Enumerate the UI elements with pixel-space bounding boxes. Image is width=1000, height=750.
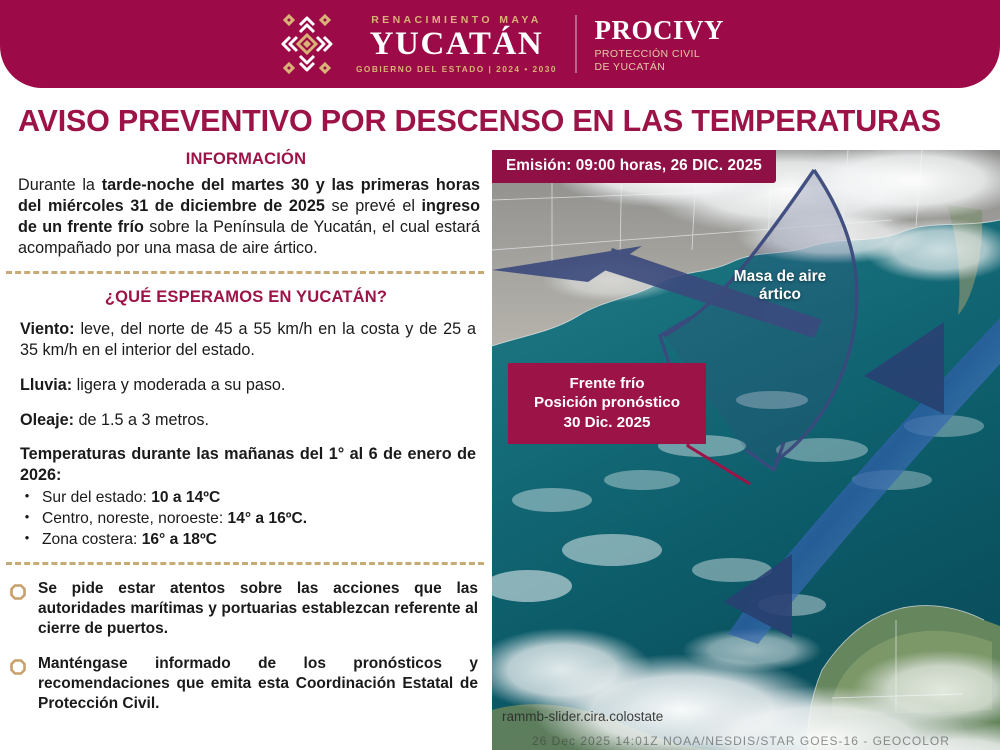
procivy-name: PROCIVY xyxy=(595,15,725,46)
octagon-ring-icon xyxy=(10,659,26,675)
expectativas-list: Viento: leve, del norte de 45 a 55 km/h … xyxy=(20,319,476,550)
list-item: Manténgase informado de los pronósticos … xyxy=(10,654,478,713)
advisory-content-column: INFORMACIÓN Durante la tarde-noche del m… xyxy=(0,150,492,750)
temperaturas-heading: Temperaturas durante las mañanas del 1° … xyxy=(20,444,476,486)
cold-front-label-line3: 30 Dic. 2025 xyxy=(534,413,680,432)
imagery-watermark-secondary: 26 Dec 2025 14:01Z NOAA/NESDIS/STAR GOES… xyxy=(532,734,950,748)
list-item: • Zona costera: 16° a 18ºC xyxy=(20,530,476,550)
satellite-map-panel: Emisión: 09:00 horas, 26 DIC. 2025 Frent… xyxy=(492,150,1000,750)
header-divider xyxy=(575,15,577,73)
temp-region: Centro, noreste, noroeste: xyxy=(42,510,223,527)
brand-header-content: RENACIMIENTO MAYA YUCATÁN GOBIERNO DEL E… xyxy=(276,13,724,75)
brand-header: RENACIMIENTO MAYA YUCATÁN GOBIERNO DEL E… xyxy=(0,0,1000,88)
section-heading-informacion: INFORMACIÓN xyxy=(0,150,492,169)
cold-front-label-line2: Posición pronóstico xyxy=(534,393,680,412)
expect-item-text: ligera y moderada a su paso. xyxy=(72,376,285,394)
expect-item-label: Oleaje: xyxy=(20,411,74,429)
maya-glyph-icon xyxy=(276,13,338,75)
temp-value: 10 a 14ºC xyxy=(151,489,220,506)
brand-name: YUCATÁN xyxy=(370,28,544,61)
temp-value: 14° a 16ºC. xyxy=(228,510,308,527)
cold-front-label-line1: Frente frío xyxy=(534,374,680,393)
page-title: AVISO PREVENTIVO POR DESCENSO EN LAS TEM… xyxy=(18,104,988,139)
divider-1 xyxy=(6,271,484,274)
emission-badge: Emisión: 09:00 horas, 26 DIC. 2025 xyxy=(492,150,776,183)
octagon-ring-icon xyxy=(10,584,26,600)
procivy-subtitle-line1: PROTECCIÓN CIVIL xyxy=(595,48,725,60)
divider-2 xyxy=(6,562,484,565)
satellite-image xyxy=(492,150,1000,750)
bullet-dot-icon: • xyxy=(20,530,34,550)
expect-item: Viento: leve, del norte de 45 a 55 km/h … xyxy=(20,319,476,361)
recommendations-list: Se pide estar atentos sobre las acciones… xyxy=(10,579,478,713)
imagery-watermark: rammb-slider.cira.colostate xyxy=(502,709,663,724)
recommendation-text: Manténgase informado de los pronósticos … xyxy=(38,654,478,713)
temp-region: Zona costera: xyxy=(42,531,137,548)
temp-row: Sur del estado: 10 a 14ºC xyxy=(42,488,220,508)
arctic-airmass-label: Masa de aire ártico xyxy=(720,268,840,305)
recommendation-text: Se pide estar atentos sobre las acciones… xyxy=(38,579,478,638)
expect-item-text: de 1.5 a 3 metros. xyxy=(74,411,209,429)
brand-tagline-bottom: GOBIERNO DEL ESTADO | 2024 • 2030 xyxy=(356,65,557,73)
procivy-wordmark: PROCIVY PROTECCIÓN CIVIL DE YUCATÁN xyxy=(595,15,725,72)
section-heading-expectativas: ¿QUÉ ESPERAMOS EN YUCATÁN? xyxy=(0,288,492,307)
expect-item-label: Viento: xyxy=(20,320,75,338)
list-item: Se pide estar atentos sobre las acciones… xyxy=(10,579,478,638)
yucatan-wordmark: RENACIMIENTO MAYA YUCATÁN GOBIERNO DEL E… xyxy=(356,15,557,74)
cold-front-label: Frente frío Posición pronóstico 30 Dic. … xyxy=(508,363,706,444)
informacion-paragraph: Durante la tarde-noche del martes 30 y l… xyxy=(18,175,480,259)
brand-tagline-top: RENACIMIENTO MAYA xyxy=(371,15,542,26)
temperaturas-bullets: • Sur del estado: 10 a 14ºC • Centro, no… xyxy=(20,488,476,551)
temp-value: 16° a 18ºC xyxy=(142,531,217,548)
expect-item-text: leve, del norte de 45 a 55 km/h en la co… xyxy=(20,320,476,359)
temp-row: Zona costera: 16° a 18ºC xyxy=(42,530,217,550)
bullet-dot-icon: • xyxy=(20,488,34,508)
temp-row: Centro, noreste, noroeste: 14° a 16ºC. xyxy=(42,509,307,529)
bullet-dot-icon: • xyxy=(20,509,34,529)
expect-item: Oleaje: de 1.5 a 3 metros. xyxy=(20,410,476,431)
expect-item: Lluvia: ligera y moderada a su paso. xyxy=(20,375,476,396)
temp-region: Sur del estado: xyxy=(42,489,147,506)
expect-item-label: Lluvia: xyxy=(20,376,72,394)
list-item: • Sur del estado: 10 a 14ºC xyxy=(20,488,476,508)
procivy-subtitle-line2: DE YUCATÁN xyxy=(595,61,725,73)
list-item: • Centro, noreste, noroeste: 14° a 16ºC. xyxy=(20,509,476,529)
